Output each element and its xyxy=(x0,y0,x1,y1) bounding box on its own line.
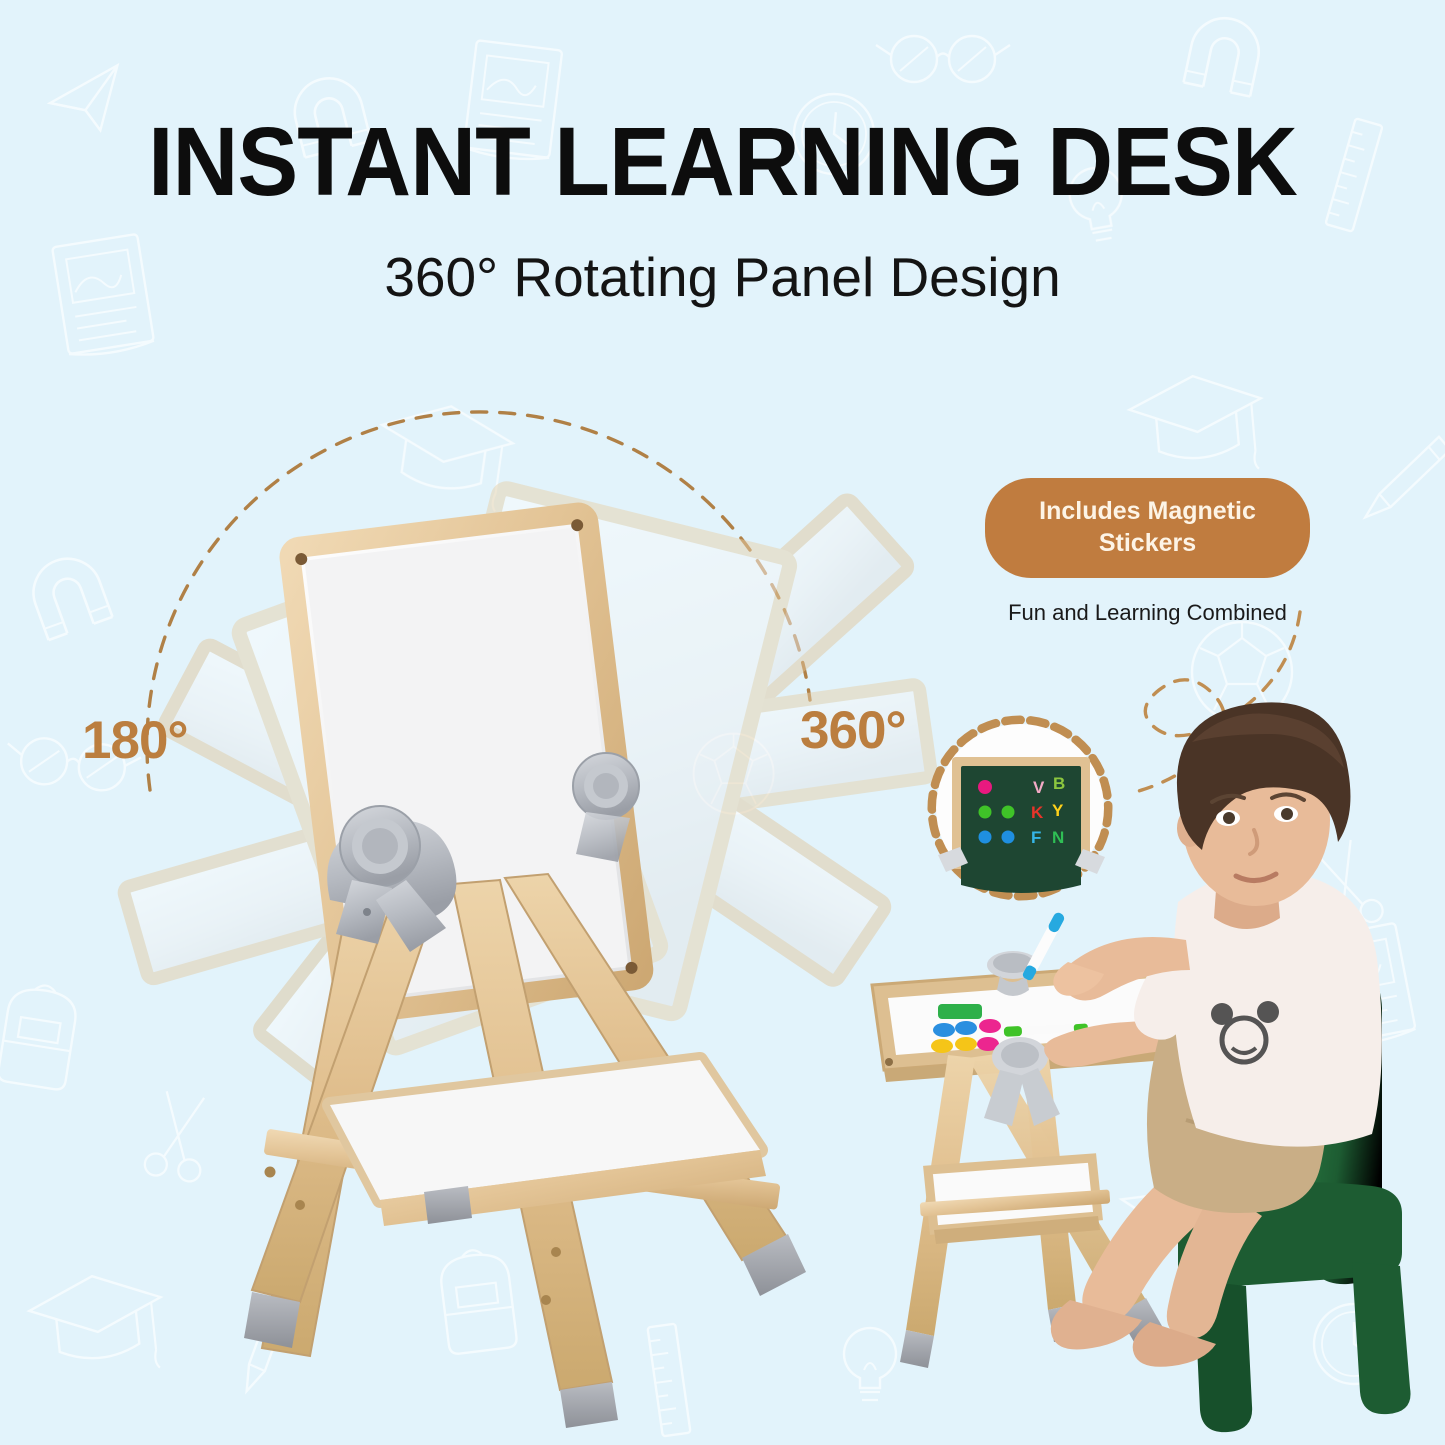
child-foot xyxy=(1133,1322,1216,1367)
child-sleeve xyxy=(1134,930,1222,1040)
magnet-dot-green xyxy=(979,806,992,819)
shirt-print xyxy=(1211,1001,1279,1062)
desk-magnet-chip xyxy=(933,1023,955,1037)
magnet-dot-pink xyxy=(978,780,992,794)
child-shirt xyxy=(1173,871,1382,1147)
magnetic-stickers-callout: Includes Magnetic Stickers Fun and Learn… xyxy=(985,478,1310,626)
desk-magnet-chip xyxy=(979,1019,1001,1033)
letter-magnet-N: N xyxy=(1052,828,1064,847)
easel-pivot-hinge-left xyxy=(327,806,456,952)
photo-scene xyxy=(872,702,1411,1432)
main-whiteboard-panel xyxy=(289,512,644,1015)
ghost-panels xyxy=(123,487,932,1091)
letter-magnet-V: V xyxy=(1033,778,1045,797)
child-desk xyxy=(872,951,1192,1368)
inset-dashed-circle xyxy=(932,720,1108,896)
child-left-hand xyxy=(1044,1021,1176,1067)
letter-magnet-Y: Y xyxy=(1052,801,1064,820)
easel-foot-caps xyxy=(244,1186,806,1428)
product-illustration-stage: V B K Y F N xyxy=(0,0,1445,1445)
child-leg xyxy=(1167,1186,1262,1338)
magnet-dot-blue xyxy=(1002,831,1015,844)
child-hair xyxy=(1177,702,1351,850)
background-doodle-pattern xyxy=(0,0,1445,1445)
desk-eraser xyxy=(938,1004,982,1019)
kids-chair xyxy=(1178,965,1411,1432)
child-head xyxy=(1182,734,1330,906)
easel-bottom-tray xyxy=(330,1060,766,1226)
badge-sublabel: Fun and Learning Combined xyxy=(985,600,1310,626)
letter-magnet-F: F xyxy=(1031,828,1041,847)
desk-hinge-top xyxy=(987,951,1039,996)
letter-magnet-K: K xyxy=(1031,803,1044,822)
desk-magnet-chip xyxy=(977,1037,999,1051)
easel-a-frame xyxy=(252,874,786,1390)
easel-pivot-hinge-right xyxy=(573,753,639,862)
page-title: INSTANT LEARNING DESK xyxy=(43,113,1401,212)
badge-pill: Includes Magnetic Stickers xyxy=(985,478,1310,578)
blue-marker xyxy=(1021,911,1065,982)
desk-magnet-chip xyxy=(955,1037,977,1051)
desk-hinge-leg xyxy=(984,1037,1060,1126)
child xyxy=(1021,702,1381,1366)
magnetic-blackboard-inset: V B K Y F N xyxy=(932,720,1108,896)
child-leg xyxy=(1082,1160,1224,1322)
rotation-arc-180 xyxy=(147,412,810,790)
degree-label-360: 360° xyxy=(800,700,906,761)
decorative-swirl xyxy=(1135,612,1300,792)
desk-magnet-chip xyxy=(955,1021,977,1035)
degree-label-180: 180° xyxy=(82,710,188,771)
magnet-dot-blue xyxy=(979,831,992,844)
magnet-dot-green xyxy=(1002,806,1015,819)
page-subtitle: 360° Rotating Panel Design xyxy=(0,245,1445,309)
main-easel xyxy=(123,487,932,1428)
child-right-arm xyxy=(1060,937,1190,1001)
child-foot xyxy=(1051,1300,1142,1350)
child-shorts xyxy=(1147,1011,1327,1213)
child-right-hand xyxy=(1053,962,1104,996)
letter-magnet-B: B xyxy=(1053,774,1065,793)
desk-magnet-chip xyxy=(931,1039,953,1053)
